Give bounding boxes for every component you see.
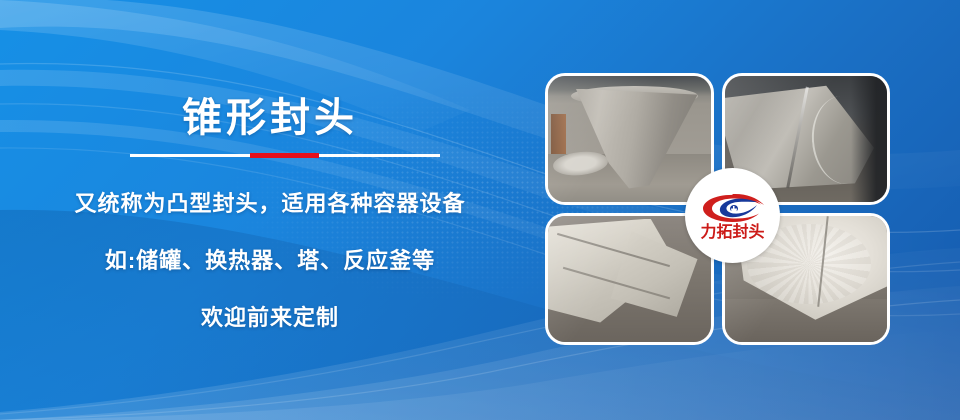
product-photo-1	[545, 73, 714, 205]
photo-2-shadow	[851, 76, 887, 202]
subline-3: 欢迎前来定制	[0, 300, 540, 332]
subline-2: 如:储罐、换热器、塔、反应釜等	[0, 243, 540, 275]
photo-3-scene	[548, 216, 711, 342]
swoosh-eye-emblem-icon	[701, 193, 765, 223]
subline-1: 又统称为凸型封头，适用各种容器设备	[0, 186, 540, 218]
product-banner: 锥形封头 又统称为凸型封头，适用各种容器设备 如:储罐、换热器、塔、反应釜等 欢…	[0, 0, 960, 420]
page-title: 锥形封头	[0, 96, 540, 140]
photo-1-post	[551, 114, 566, 157]
banner-copy: 锥形封头 又统称为凸型封头，适用各种容器设备 如:储罐、换热器、塔、反应釜等 欢…	[0, 0, 540, 420]
photo-1-scene	[548, 76, 711, 202]
logo-brand-text: 力拓封头	[700, 225, 764, 241]
company-logo-badge: 力拓封头	[685, 168, 780, 263]
title-divider-accent	[250, 153, 319, 158]
